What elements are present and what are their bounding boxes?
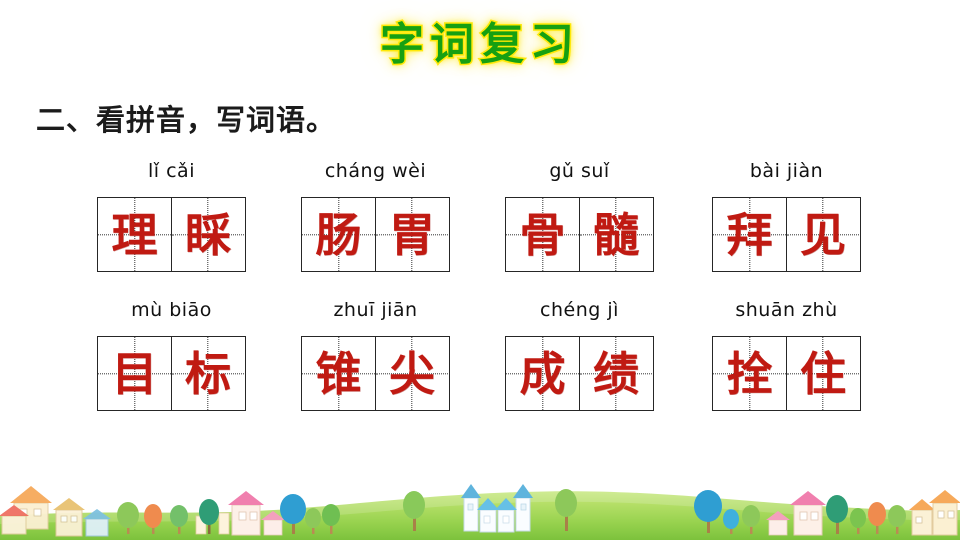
pinyin-label: cháng wèi [301,158,450,184]
house-group-midleft [196,491,285,535]
exercise-item: gǔ suǐ骨髓 [505,158,654,272]
tianzige-cell[interactable]: 尖 [375,337,448,410]
hanzi-answer: 肠 [302,198,375,271]
tianzige-cell[interactable]: 标 [171,337,244,410]
pinyin-label: chéng jì [505,297,654,323]
tianzige-cell[interactable]: 拜 [713,198,786,271]
hanzi-answer: 尖 [376,337,448,410]
page-title: 字词复习 [380,8,580,72]
tree-group-right [694,490,760,534]
hanzi-answer: 拴 [713,337,786,410]
exercise-item: mù biāo目标 [97,297,246,411]
exercise-row-1: lǐ cǎi理睬cháng wèi肠胃gǔ suǐ骨髓bài jiàn拜见 [0,158,960,278]
pinyin-label: mù biāo [97,297,246,323]
hanzi-answer: 理 [98,198,171,271]
pinyin-label: shuān zhù [712,297,861,323]
village-border-decoration [0,420,960,540]
tree-group-midleft [170,494,340,534]
hanzi-answer: 成 [506,337,579,410]
exercise-item: bài jiàn拜见 [712,158,861,272]
tianzige-cell[interactable]: 睬 [171,198,244,271]
tianzige-cell[interactable]: 见 [786,198,859,271]
tianzige-cell[interactable]: 住 [786,337,859,410]
tianzige-cell[interactable]: 成 [506,337,579,410]
pinyin-label: bài jiàn [712,158,861,184]
title-container: 字词复习 [0,8,960,72]
exercise-row-2: mù biāo目标zhuī jiān锥尖chéng jì成绩shuān zhù拴… [0,297,960,417]
tianzige-grid[interactable]: 目标 [97,336,246,411]
pinyin-label: gǔ suǐ [505,158,654,184]
tianzige-grid[interactable]: 拜见 [712,197,861,272]
exercise-item: chéng jì成绩 [505,297,654,411]
hanzi-answer: 拜 [713,198,786,271]
tianzige-cell[interactable]: 目 [98,337,171,410]
tianzige-grid[interactable]: 锥尖 [301,336,450,411]
house-group-left [0,486,111,536]
tree-group-left [117,502,162,534]
tianzige-grid[interactable]: 成绩 [505,336,654,411]
hanzi-answer: 标 [172,337,244,410]
tianzige-cell[interactable]: 锥 [302,337,375,410]
hanzi-answer: 睬 [172,198,244,271]
hanzi-answer: 髓 [580,198,652,271]
hanzi-answer: 绩 [580,337,652,410]
hanzi-answer: 见 [787,198,859,271]
house-group-far-right [909,490,960,535]
tianzige-grid[interactable]: 肠胃 [301,197,450,272]
tianzige-grid[interactable]: 理睬 [97,197,246,272]
castle-center [461,484,533,532]
hill-back [0,491,960,540]
tianzige-cell[interactable]: 绩 [579,337,652,410]
tianzige-cell[interactable]: 理 [98,198,171,271]
pinyin-label: lǐ cǎi [97,158,246,184]
exercise-item: lǐ cǎi理睬 [97,158,246,272]
instruction-text: 二、看拼音，写词语。 [36,97,336,139]
exercise-item: cháng wèi肠胃 [301,158,450,272]
tree-group-center-right [555,489,577,531]
tree-group-far-right [826,495,906,534]
hanzi-answer: 骨 [506,198,579,271]
hill-front [0,502,960,540]
slide-canvas: 字词复习 二、看拼音，写词语。 lǐ cǎi理睬cháng wèi肠胃gǔ su… [0,0,960,540]
exercise-item: shuān zhù拴住 [712,297,861,411]
tianzige-cell[interactable]: 骨 [506,198,579,271]
hanzi-answer: 目 [98,337,171,410]
house-group-right [766,491,826,535]
hanzi-answer: 胃 [376,198,448,271]
tianzige-grid[interactable]: 拴住 [712,336,861,411]
tree-group-center-left [403,491,425,531]
tianzige-cell[interactable]: 肠 [302,198,375,271]
tianzige-cell[interactable]: 髓 [579,198,652,271]
tianzige-grid[interactable]: 骨髓 [505,197,654,272]
tianzige-cell[interactable]: 胃 [375,198,448,271]
hanzi-answer: 锥 [302,337,375,410]
exercise-item: zhuī jiān锥尖 [301,297,450,411]
tianzige-cell[interactable]: 拴 [713,337,786,410]
pinyin-label: zhuī jiān [301,297,450,323]
hanzi-answer: 住 [787,337,859,410]
